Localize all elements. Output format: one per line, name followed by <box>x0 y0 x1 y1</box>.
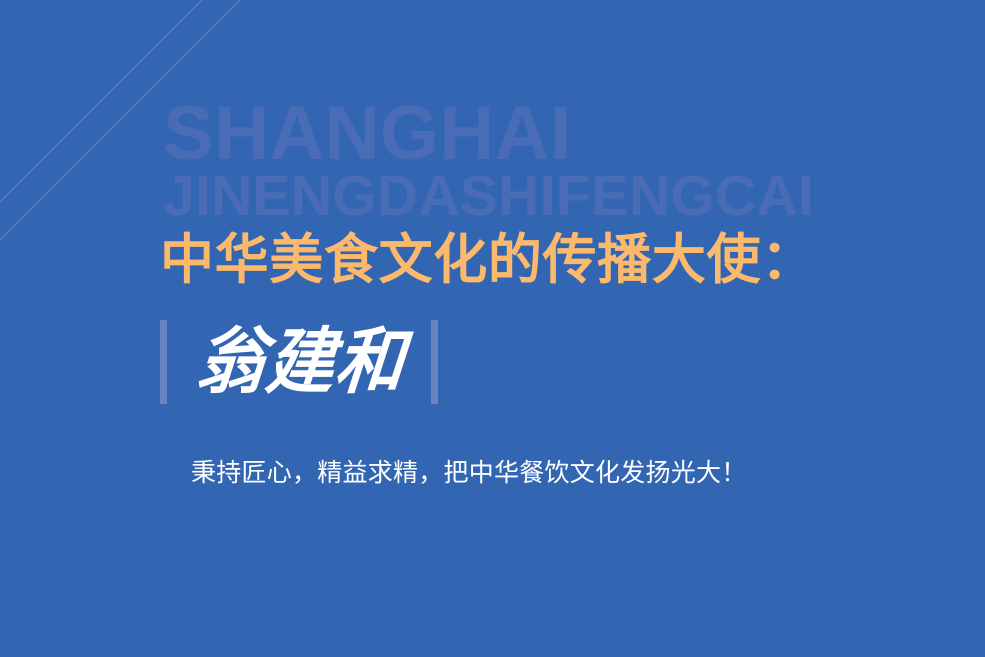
slide-canvas: SHANGHAI JINENGDASHIFENGCAI 中华美食文化的传播大使：… <box>0 0 985 657</box>
name-block: 翁建和 <box>160 318 438 406</box>
watermark-text-shanghai: SHANGHAI <box>163 96 571 172</box>
person-name: 翁建和 <box>163 317 435 406</box>
watermark-text-pinyin: JINENGDASHIFENGCAI <box>163 168 814 225</box>
subtitle-slogan: 秉持匠心，精益求精，把中华餐饮文化发扬光大！ <box>191 456 747 490</box>
headline-title: 中华美食文化的传播大使： <box>160 229 816 291</box>
